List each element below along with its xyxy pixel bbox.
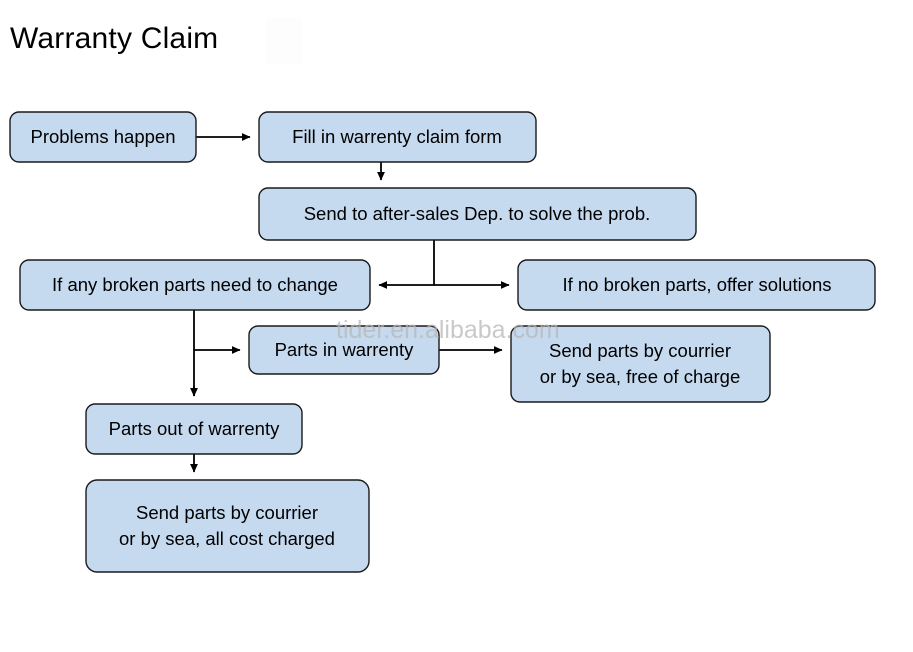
node-send-parts-all-cost-charged-label-line2: or by sea, all cost charged <box>119 528 335 549</box>
node-parts-out-of-warrenty-label: Parts out of warrenty <box>109 418 280 439</box>
node-fill-in-warrenty-claim-form-label: Fill in warrenty claim form <box>292 126 502 147</box>
node-parts-in-warrenty-label: Parts in warrenty <box>275 339 415 360</box>
node-send-parts-free-of-charge[interactable]: Send parts by courrier or by sea, free o… <box>511 326 770 402</box>
node-send-parts-all-cost-charged[interactable]: Send parts by courrier or by sea, all co… <box>86 480 369 572</box>
node-parts-out-of-warrenty[interactable]: Parts out of warrenty <box>86 404 302 454</box>
node-if-no-broken-parts[interactable]: If no broken parts, offer solutions <box>518 260 875 310</box>
node-if-any-broken-parts[interactable]: If any broken parts need to change <box>20 260 370 310</box>
node-layer: Problems happen Fill in warrenty claim f… <box>10 112 875 572</box>
node-send-to-after-sales-dep[interactable]: Send to after-sales Dep. to solve the pr… <box>259 188 696 240</box>
node-problems-happen[interactable]: Problems happen <box>10 112 196 162</box>
flowchart-canvas: Warranty Claim <box>0 0 913 652</box>
flowchart-svg: Problems happen Fill in warrenty claim f… <box>0 0 913 652</box>
node-send-parts-all-cost-charged-shape[interactable] <box>86 480 369 572</box>
node-if-any-broken-parts-label: If any broken parts need to change <box>52 274 338 295</box>
node-send-parts-free-of-charge-label-line2: or by sea, free of charge <box>540 366 741 387</box>
node-send-to-after-sales-dep-label: Send to after-sales Dep. to solve the pr… <box>304 203 651 224</box>
node-if-no-broken-parts-label: If no broken parts, offer solutions <box>562 274 831 295</box>
node-fill-in-warrenty-claim-form[interactable]: Fill in warrenty claim form <box>259 112 536 162</box>
node-problems-happen-label: Problems happen <box>30 126 175 147</box>
node-send-parts-all-cost-charged-label-line1: Send parts by courrier <box>136 502 318 523</box>
node-send-parts-free-of-charge-shape[interactable] <box>511 326 770 402</box>
node-parts-in-warrenty[interactable]: Parts in warrenty <box>249 326 439 374</box>
node-send-parts-free-of-charge-label-line1: Send parts by courrier <box>549 340 731 361</box>
